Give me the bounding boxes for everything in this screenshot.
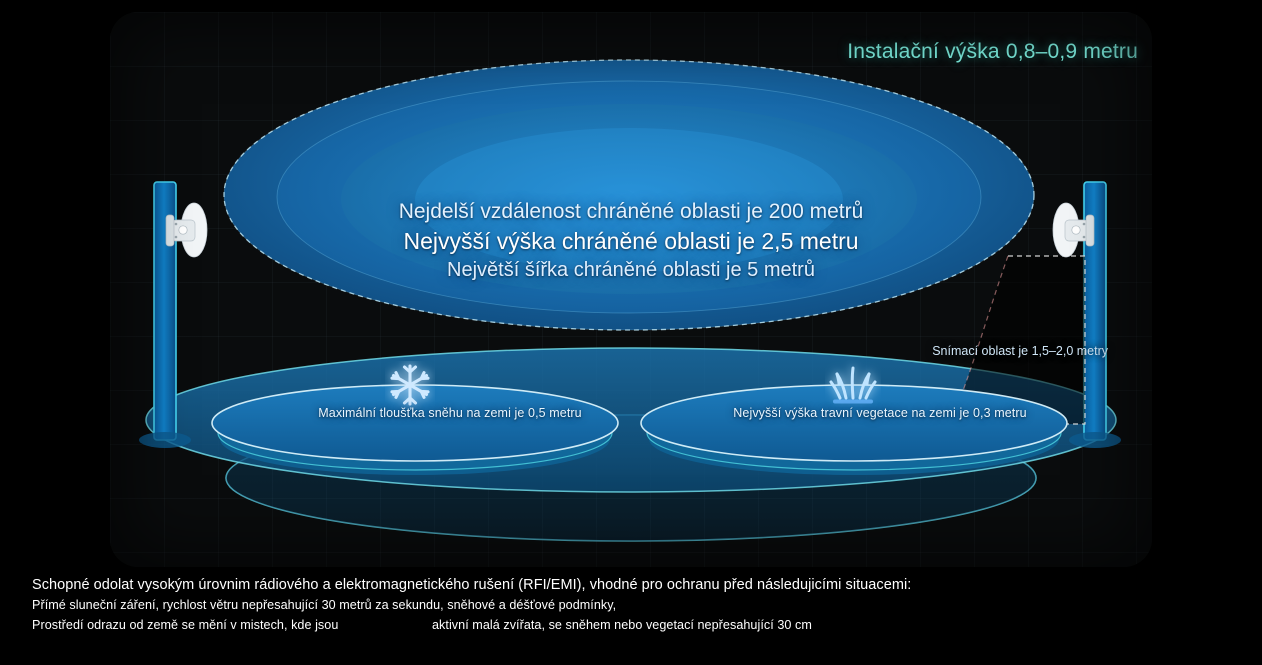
grass-icon [825,360,881,408]
caption-line-weather: Přímé sluneční záření, rychlost větru ne… [32,596,1242,616]
snowflake-icon [385,361,435,409]
radar-coverage-illustration [110,12,1152,567]
coverage-line-distance: Nejdelší vzdálenost chráněné oblasti je … [286,198,976,226]
caption-line-environment-part-a: Prostředí odrazu od země se mění v miste… [32,616,432,636]
scene-card: Instalační výška 0,8–0,9 metru Nejdelší … [110,12,1152,567]
coverage-text-block: Nejdelší vzdálenost chráněné oblasti je … [286,198,976,284]
caption-line-environment-part-b: aktivní malá zvířata, se sněhem nebo veg… [432,616,812,636]
coverage-line-height: Nejvyšší výška chráněné oblasti je 2,5 m… [286,226,976,257]
sensing-area-label: Snímací oblast je 1,5–2,0 metry [880,343,1108,360]
caption-block: Schopné odolat vysokým úrovnim rádiového… [32,575,1242,635]
coverage-line-width: Největší šířka chráněné oblasti je 5 met… [286,257,976,284]
grass-height-label: Nejvyšší výška travní vegetace na zemi j… [670,406,1090,420]
caption-line-environment: Prostředí odrazu od země se mění v miste… [32,616,1242,636]
install-height-title: Instalační výška 0,8–0,9 metru [838,40,1138,64]
caption-line-rfi: Schopné odolat vysokým úrovnim rádiového… [32,575,1242,596]
coverage-beam-ellipse [224,60,1034,330]
snow-depth-label: Maximální tloušťka sněhu na zemi je 0,5 … [260,406,640,420]
